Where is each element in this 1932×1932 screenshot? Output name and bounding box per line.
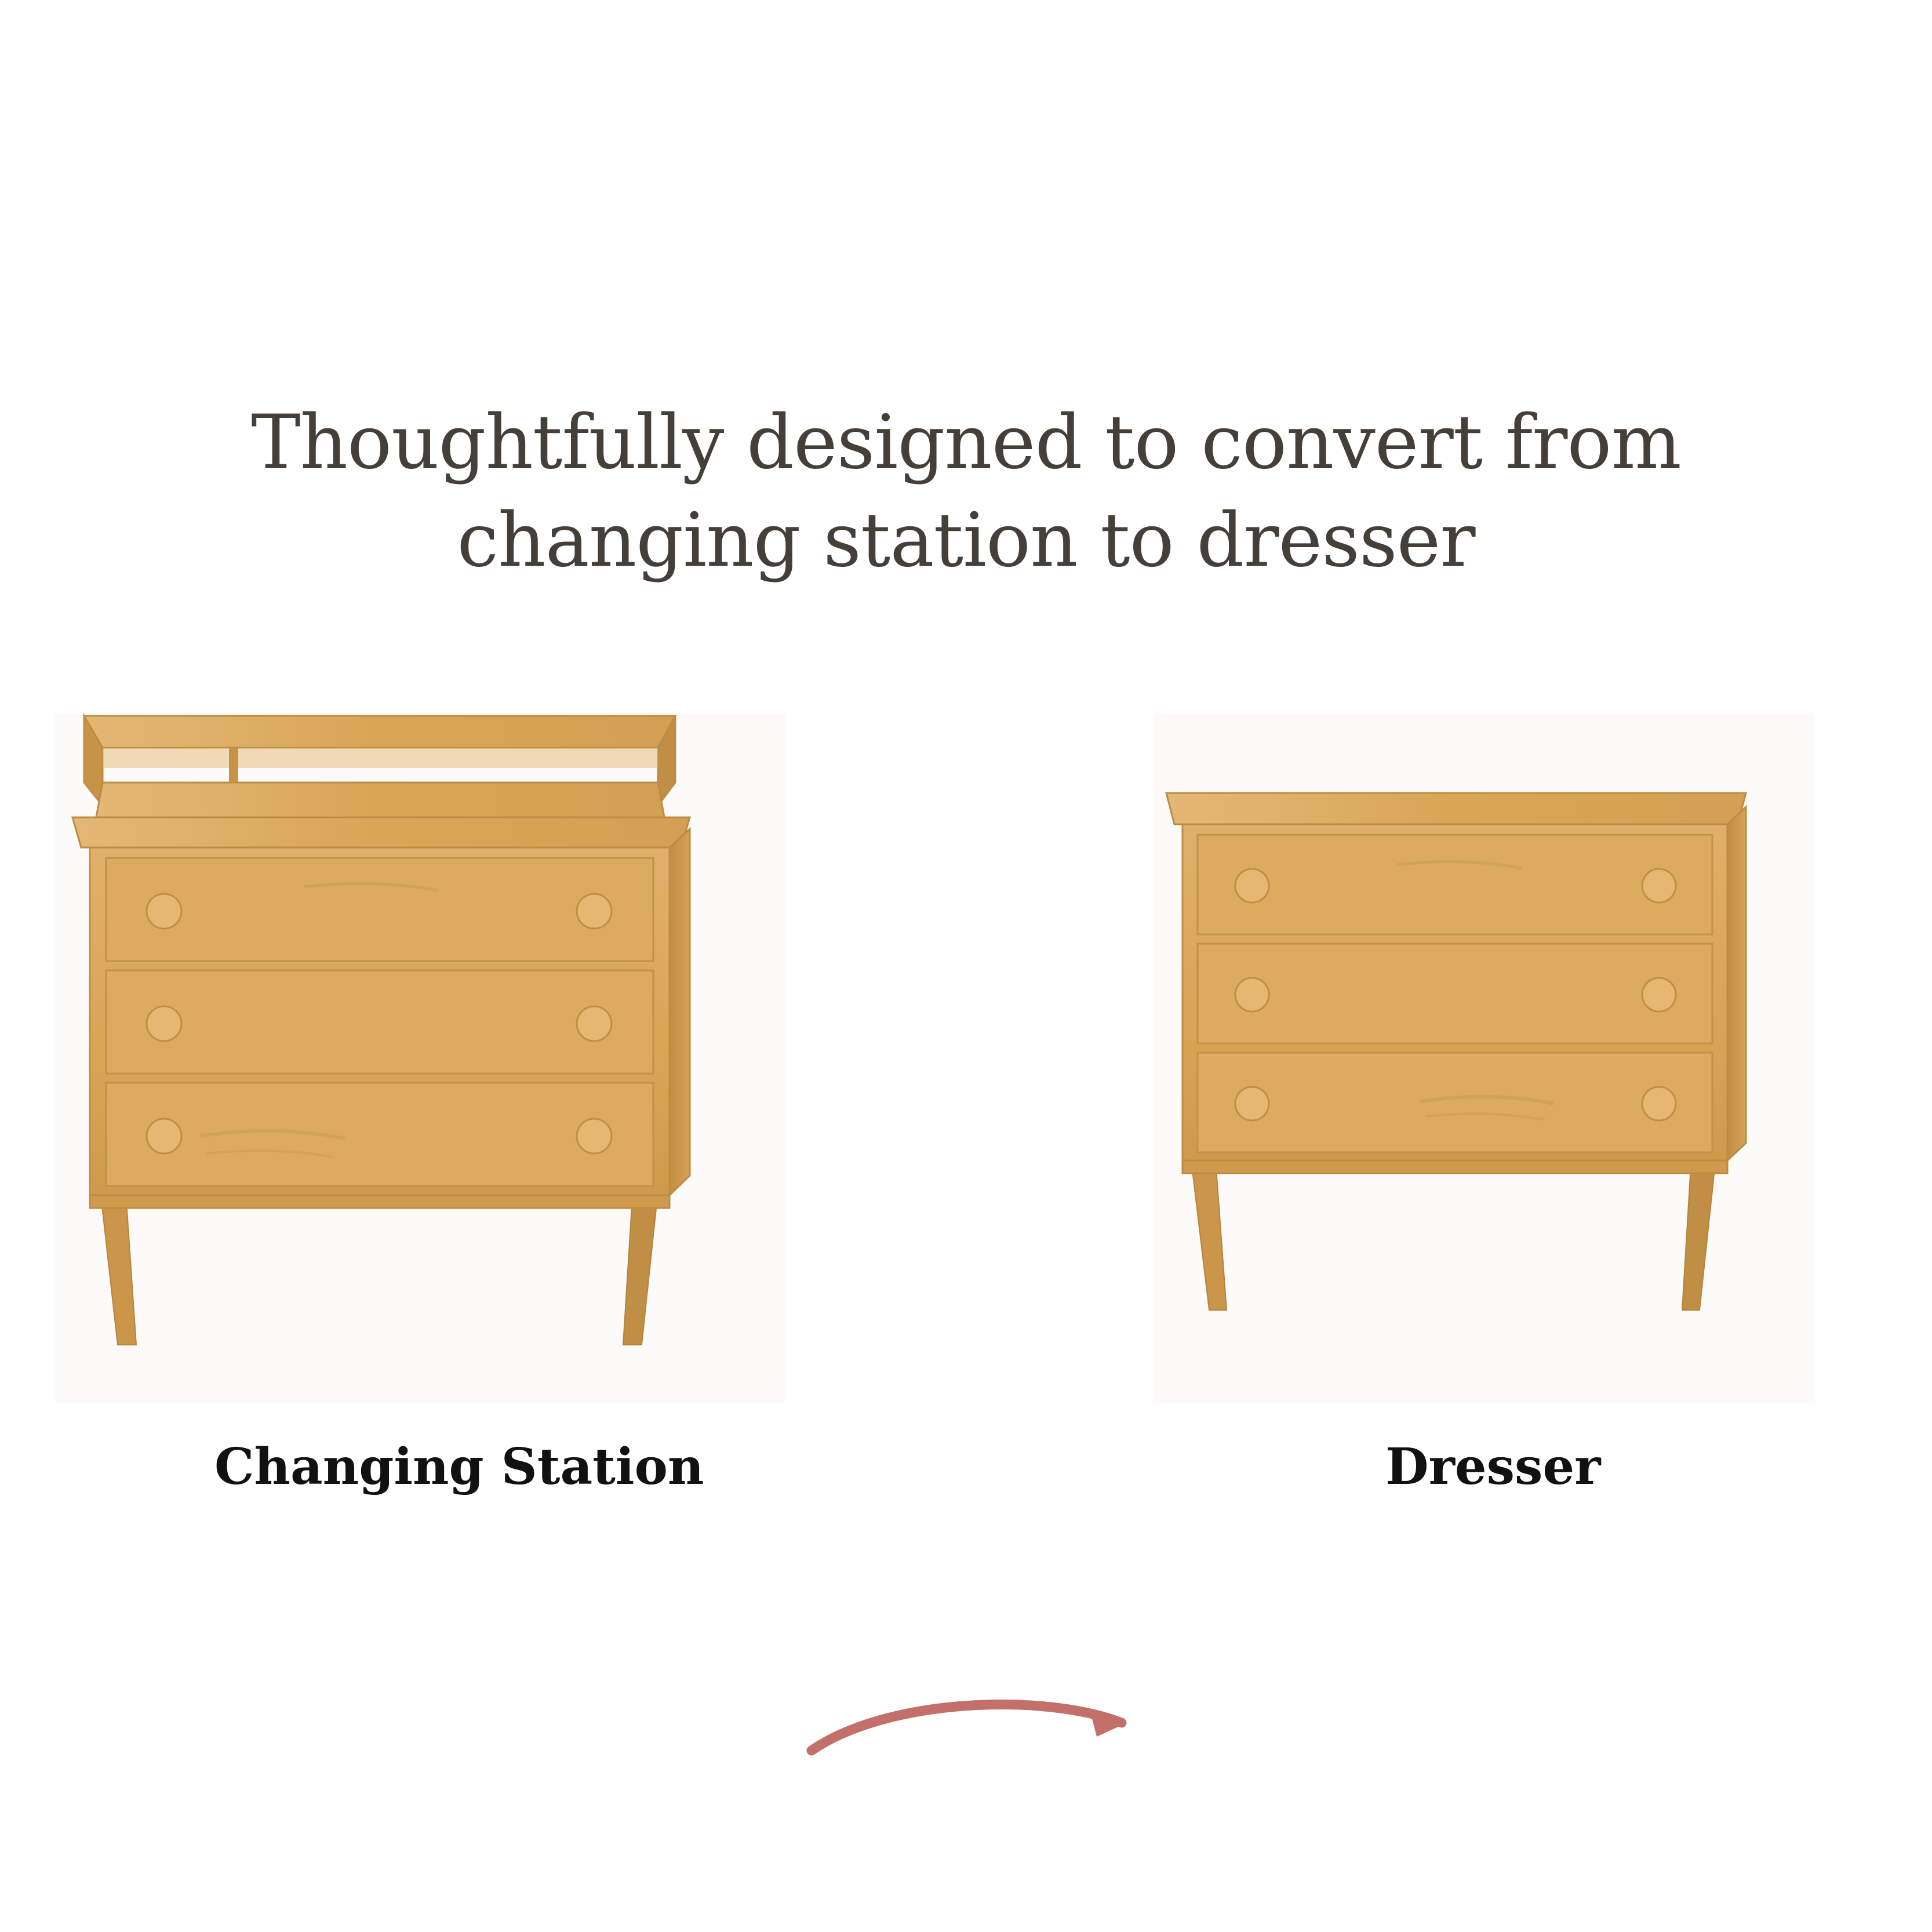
caption-changing-station: Changing Station: [214, 1438, 704, 1496]
page-title: Thoughtfully designed to convert from ch…: [0, 394, 1932, 590]
caption-dresser: Dresser: [1385, 1438, 1600, 1496]
product-image-dresser: [1154, 713, 1814, 1403]
changing-station-illustration: [55, 696, 785, 1385]
page-title-line-1: Thoughtfully designed to convert from: [0, 394, 1932, 492]
product-image-changing-station: [55, 713, 785, 1403]
page-title-line-2: changing station to dresser: [0, 492, 1932, 590]
dresser-illustration: [1154, 696, 1814, 1385]
product-comparison-row: [0, 713, 1932, 1409]
conversion-graphic: Thoughtfully designed to convert from ch…: [0, 0, 1932, 1932]
curved-arrow-right-icon: [800, 1687, 1148, 1780]
